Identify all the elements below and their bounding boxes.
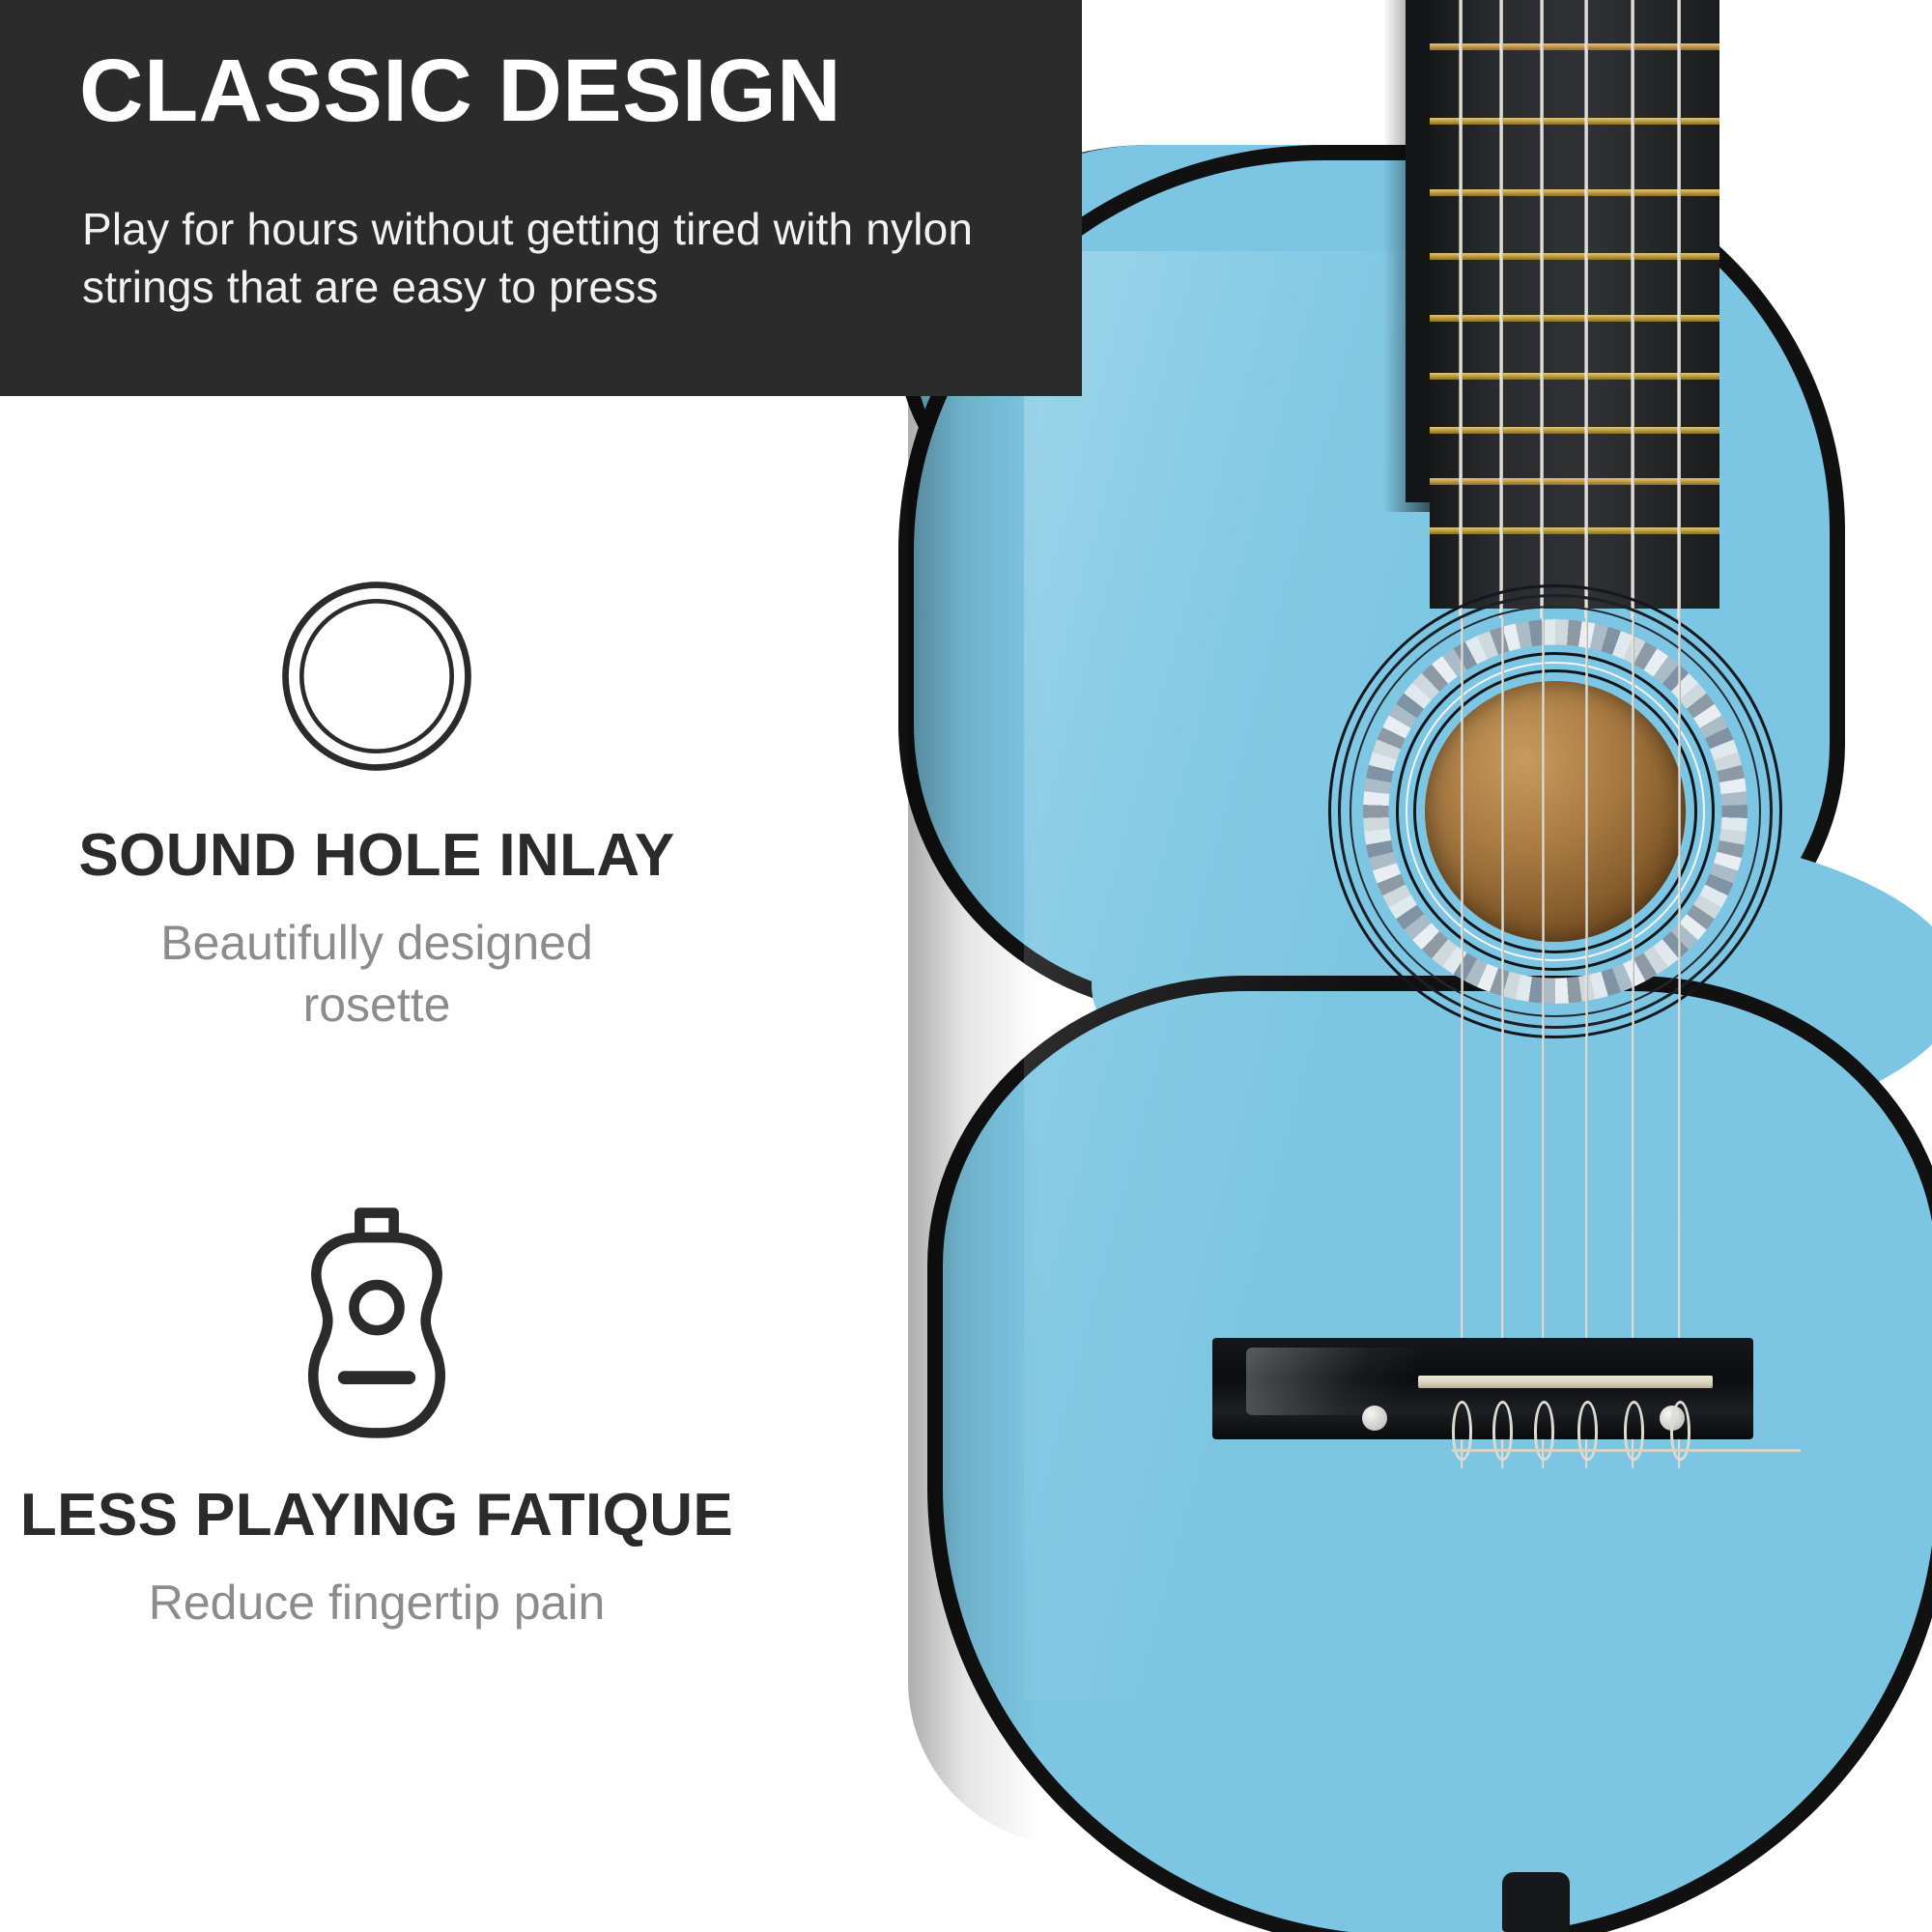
fret: [1430, 478, 1719, 485]
sound-hole: [1425, 681, 1686, 942]
feature-title: SOUND HOLE INLAY: [10, 824, 744, 887]
guitar-lower-bout: [927, 976, 1932, 1932]
fret: [1430, 373, 1719, 380]
sound-hole-rosette: [1328, 584, 1782, 1038]
feature-description: Reduce fingertip pain: [87, 1572, 667, 1634]
feature-title: LESS PLAYING FATIQUE: [10, 1484, 744, 1547]
guitar-stand-foot: [1502, 1872, 1570, 1932]
guitar-string: [1459, 0, 1463, 618]
feature-icon-wrap: [10, 555, 744, 797]
banner-title: CLASSIC DESIGN: [79, 46, 841, 135]
guitar-string: [1499, 0, 1503, 618]
feature-icon-wrap: [10, 1215, 744, 1457]
acoustic-guitar-body-icon: [282, 1203, 471, 1469]
fret: [1430, 315, 1719, 322]
bridge-inlay-dot: [1362, 1406, 1387, 1431]
string-tie-tail: [1670, 1449, 1801, 1452]
header-banner: CLASSIC DESIGN Play for hours without ge…: [0, 0, 1082, 396]
guitar-string: [1540, 0, 1544, 618]
fret: [1430, 427, 1719, 434]
fret: [1430, 118, 1719, 125]
fret: [1430, 43, 1719, 50]
feature-block-sound-hole-inlay: SOUND HOLE INLAY Beautifully designed ro…: [10, 555, 744, 1036]
guitar-fretboard: [1430, 0, 1719, 609]
feature-block-less-playing-fatique: LESS PLAYING FATIQUE Reduce fingertip pa…: [10, 1215, 744, 1634]
bridge-saddle: [1418, 1376, 1713, 1388]
fret: [1430, 527, 1719, 534]
sound-hole-rosette-icon: [275, 575, 478, 778]
fret: [1430, 253, 1719, 260]
guitar-string: [1584, 0, 1588, 618]
guitar-string: [1677, 0, 1681, 618]
feature-description: Beautifully designed rosette: [87, 912, 667, 1036]
guitar-string: [1631, 0, 1634, 618]
banner-subtitle: Play for hours without getting tired wit…: [82, 201, 1009, 317]
infographic-page: CLASSIC DESIGN Play for hours without ge…: [0, 0, 1932, 1932]
fret: [1430, 189, 1719, 196]
